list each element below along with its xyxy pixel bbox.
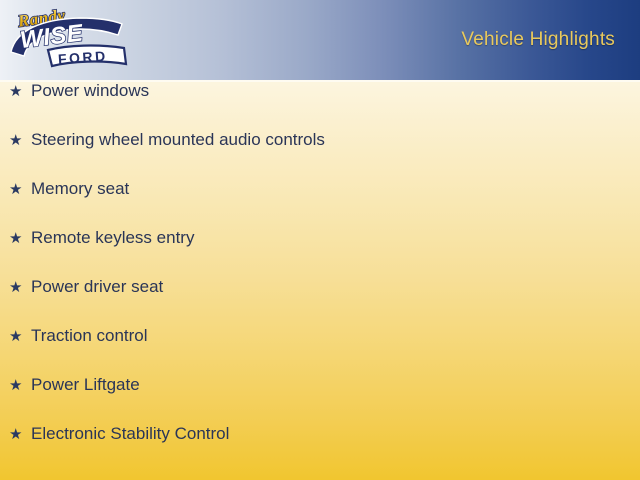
list-item-label: Power windows bbox=[31, 82, 149, 99]
list-item-label: Power driver seat bbox=[31, 278, 163, 295]
list-item-label: Power Liftgate bbox=[31, 376, 140, 393]
page-header: Randy WISE FORD Vehicle Highlights bbox=[0, 0, 640, 80]
star-icon: ★ bbox=[9, 378, 31, 393]
list-item-label: Electronic Stability Control bbox=[31, 425, 229, 442]
star-icon: ★ bbox=[9, 182, 31, 197]
randy-wise-ford-logo-icon: Randy WISE FORD bbox=[6, 2, 140, 76]
list-item-label: Remote keyless entry bbox=[31, 229, 194, 246]
list-item: ★ Power windows bbox=[0, 82, 640, 131]
dealer-logo[interactable]: Randy WISE FORD bbox=[6, 2, 140, 76]
list-item: ★ Traction control bbox=[0, 327, 640, 376]
svg-text:FORD: FORD bbox=[57, 48, 108, 67]
star-icon: ★ bbox=[9, 231, 31, 246]
vehicle-highlights-list: ★ Power windows ★ Steering wheel mounted… bbox=[0, 82, 640, 474]
list-item: ★ Memory seat bbox=[0, 180, 640, 229]
list-item: ★ Steering wheel mounted audio controls bbox=[0, 131, 640, 180]
page-title: Vehicle Highlights bbox=[461, 29, 615, 51]
star-icon: ★ bbox=[9, 329, 31, 344]
list-item: ★ Electronic Stability Control bbox=[0, 425, 640, 474]
star-icon: ★ bbox=[9, 427, 31, 442]
list-item-label: Memory seat bbox=[31, 180, 129, 197]
star-icon: ★ bbox=[9, 280, 31, 295]
list-item-label: Steering wheel mounted audio controls bbox=[31, 131, 325, 148]
list-item: ★ Power Liftgate bbox=[0, 376, 640, 425]
star-icon: ★ bbox=[9, 133, 31, 148]
list-item-label: Traction control bbox=[31, 327, 148, 344]
star-icon: ★ bbox=[9, 84, 31, 99]
list-item: ★ Remote keyless entry bbox=[0, 229, 640, 278]
list-item: ★ Power driver seat bbox=[0, 278, 640, 327]
vehicle-highlights-page: Randy WISE FORD Vehicle Highlights ★ bbox=[0, 0, 640, 480]
